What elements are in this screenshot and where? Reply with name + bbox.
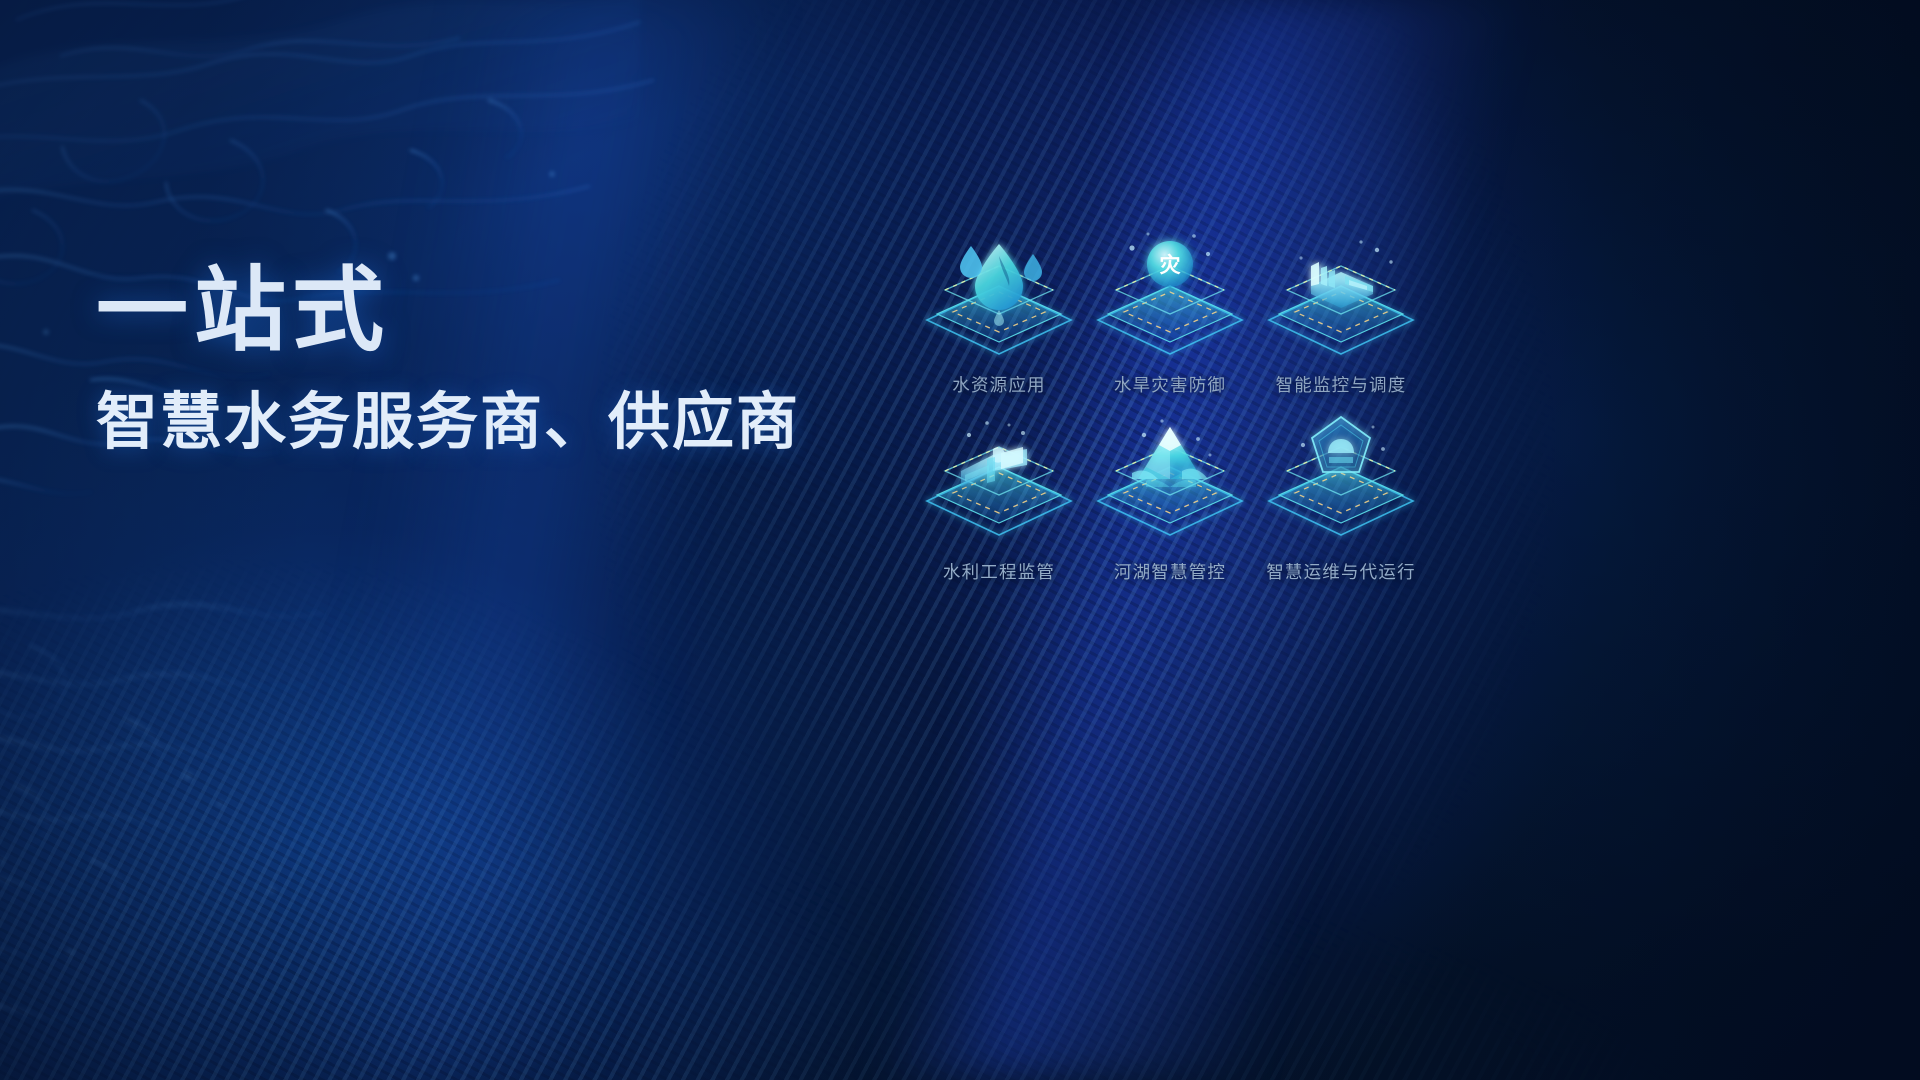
capability-label: 水资源应用 <box>952 372 1046 397</box>
capability-item-smart-ops-managed-service[interactable]: 智慧运维与代运行 <box>1257 409 1425 590</box>
capability-item-water-resource[interactable]: 水资源应用 <box>915 228 1083 409</box>
page-title-primary: 一站式 <box>96 262 876 361</box>
monitoring-dam-icon <box>1257 228 1425 368</box>
disaster-glyph: 灾 <box>1160 253 1182 277</box>
capability-label: 水旱灾害防御 <box>1114 372 1226 397</box>
capability-grid: 水资源应用 <box>915 228 1435 590</box>
hydraulic-works-icon <box>915 409 1083 549</box>
water-ink-texture-bottom <box>0 560 560 1080</box>
capability-label: 河湖智慧管控 <box>1114 559 1226 584</box>
slide-canvas: 一站式 智慧水务服务商、供应商 <box>0 0 1920 1080</box>
river-lake-mountain-icon <box>1086 409 1254 549</box>
disaster-sphere-icon: 灾 <box>1086 228 1254 368</box>
capability-item-hydraulic-works-supervision[interactable]: 水利工程监管 <box>915 409 1083 590</box>
capability-item-smart-monitoring-dispatch[interactable]: 智能监控与调度 <box>1257 228 1425 409</box>
capability-item-flood-drought-defense[interactable]: 灾 水旱灾害防御 <box>1086 228 1254 409</box>
capability-label: 水利工程监管 <box>943 559 1055 584</box>
capability-label: 智能监控与调度 <box>1276 372 1407 397</box>
capability-label: 智慧运维与代运行 <box>1266 559 1416 584</box>
page-title-secondary: 智慧水务服务商、供应商 <box>96 387 876 458</box>
shield-operations-icon <box>1257 409 1425 549</box>
capability-item-river-lake-management[interactable]: 河湖智慧管控 <box>1086 409 1254 590</box>
water-drop-icon <box>915 228 1083 368</box>
headline-block: 一站式 智慧水务服务商、供应商 <box>96 262 876 459</box>
